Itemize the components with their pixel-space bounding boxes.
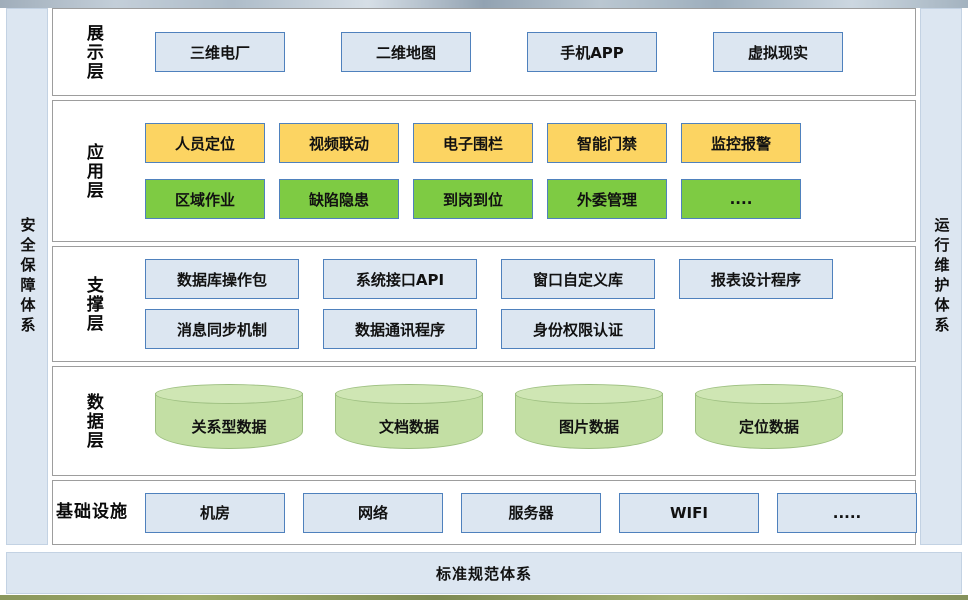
layer-support: 支撑层数据库操作包系统接口API窗口自定义库报表设计程序消息同步机制数据通讯程序… — [52, 246, 916, 362]
layer-body-presentation: 三维电厂二维地图手机APP虚拟现实 — [131, 9, 915, 95]
database-cylinder[interactable]: 定位数据 — [695, 384, 843, 458]
node-box[interactable]: 三维电厂 — [155, 32, 285, 72]
node-box[interactable]: 虚拟现实 — [713, 32, 843, 72]
node-label: 二维地图 — [376, 42, 436, 63]
bottom-photo-strip — [0, 595, 968, 600]
layer-label-infra: 基础设施 — [53, 504, 131, 522]
database-cylinder[interactable]: 图片数据 — [515, 384, 663, 458]
node-box[interactable]: 数据库操作包 — [145, 259, 299, 299]
node-label: 服务器 — [508, 502, 553, 523]
layer-row: 人员定位视频联动电子围栏智能门禁监控报警 — [131, 123, 909, 163]
node-label: 外委管理 — [577, 189, 637, 210]
cylinder-top-icon — [155, 384, 303, 404]
node-label: 人员定位 — [175, 133, 235, 154]
layer-row: 消息同步机制数据通讯程序身份权限认证 — [131, 309, 909, 349]
node-label: 网络 — [358, 502, 388, 523]
node-box[interactable]: 服务器 — [461, 493, 601, 533]
node-box[interactable]: 系统接口API — [323, 259, 477, 299]
node-label: 虚拟现实 — [748, 42, 808, 63]
layer-body-application: 人员定位视频联动电子围栏智能门禁监控报警区域作业缺陷隐患到岗到位外委管理.... — [131, 101, 915, 241]
layer-row: 三维电厂二维地图手机APP虚拟现实 — [131, 32, 909, 72]
cylinder-top-icon — [695, 384, 843, 404]
layer-row: 机房网络服务器WIFI..... — [131, 493, 917, 533]
node-box[interactable]: 区域作业 — [145, 179, 265, 219]
node-label: 视频联动 — [309, 133, 369, 154]
node-box[interactable]: 二维地图 — [341, 32, 471, 72]
node-label: 智能门禁 — [577, 133, 637, 154]
node-label: 手机APP — [560, 42, 624, 63]
layer-body-infra: 机房网络服务器WIFI..... — [131, 481, 923, 544]
layer-stack: 展示层三维电厂二维地图手机APP虚拟现实应用层人员定位视频联动电子围栏智能门禁监… — [52, 8, 916, 545]
node-box[interactable]: 消息同步机制 — [145, 309, 299, 349]
node-label: 数据通讯程序 — [355, 319, 445, 340]
layer-label-support: 支撑层 — [53, 276, 131, 333]
bottom-bar-label: 标准规范体系 — [436, 563, 532, 584]
node-box[interactable]: 窗口自定义库 — [501, 259, 655, 299]
cylinder-label: 图片数据 — [559, 416, 619, 437]
cylinder-label: 关系型数据 — [191, 416, 266, 437]
cylinder-top-icon — [515, 384, 663, 404]
node-label: 消息同步机制 — [177, 319, 267, 340]
database-cylinder[interactable]: 文档数据 — [335, 384, 483, 458]
node-box[interactable]: 报表设计程序 — [679, 259, 833, 299]
layer-label-presentation: 展示层 — [53, 24, 131, 81]
node-label: 电子围栏 — [443, 133, 503, 154]
cylinder-label: 文档数据 — [379, 416, 439, 437]
bottom-bar-standards: 标准规范体系 — [6, 552, 962, 594]
node-box[interactable]: 缺陷隐患 — [279, 179, 399, 219]
left-vertical-bar-security: 安全保障体系 — [6, 8, 48, 545]
node-box[interactable]: 网络 — [303, 493, 443, 533]
node-box[interactable]: 机房 — [145, 493, 285, 533]
node-box[interactable]: 身份权限认证 — [501, 309, 655, 349]
node-label: 三维电厂 — [190, 42, 250, 63]
layer-row: 关系型数据文档数据图片数据定位数据 — [131, 384, 909, 458]
cylinder-top-icon — [335, 384, 483, 404]
node-box[interactable]: 智能门禁 — [547, 123, 667, 163]
node-label: 到岗到位 — [443, 189, 503, 210]
layer-body-data: 关系型数据文档数据图片数据定位数据 — [131, 367, 915, 475]
node-label: ..... — [833, 504, 862, 522]
node-label: 机房 — [200, 502, 230, 523]
layer-infra: 基础设施机房网络服务器WIFI..... — [52, 480, 916, 545]
node-label: 报表设计程序 — [711, 269, 801, 290]
layer-presentation: 展示层三维电厂二维地图手机APP虚拟现实 — [52, 8, 916, 96]
layer-data: 数据层关系型数据文档数据图片数据定位数据 — [52, 366, 916, 476]
node-label: 系统接口API — [356, 269, 444, 290]
top-photo-strip — [0, 0, 968, 8]
node-label: 身份权限认证 — [533, 319, 623, 340]
node-box[interactable]: 人员定位 — [145, 123, 265, 163]
node-label: 窗口自定义库 — [533, 269, 623, 290]
node-label: WIFI — [670, 504, 708, 522]
node-label: 数据库操作包 — [177, 269, 267, 290]
right-bar-label: 运行维护体系 — [934, 217, 949, 337]
node-box[interactable]: ..... — [777, 493, 917, 533]
node-box[interactable]: WIFI — [619, 493, 759, 533]
node-box[interactable]: 数据通讯程序 — [323, 309, 477, 349]
node-box[interactable]: 电子围栏 — [413, 123, 533, 163]
node-box[interactable]: 视频联动 — [279, 123, 399, 163]
cylinder-label: 定位数据 — [739, 416, 799, 437]
layer-application: 应用层人员定位视频联动电子围栏智能门禁监控报警区域作业缺陷隐患到岗到位外委管理.… — [52, 100, 916, 242]
right-vertical-bar-operations: 运行维护体系 — [920, 8, 962, 545]
node-label: 区域作业 — [175, 189, 235, 210]
node-box[interactable]: 监控报警 — [681, 123, 801, 163]
layer-label-data: 数据层 — [53, 393, 131, 450]
database-cylinder[interactable]: 关系型数据 — [155, 384, 303, 458]
layer-label-application: 应用层 — [53, 143, 131, 200]
left-bar-label: 安全保障体系 — [20, 217, 35, 337]
layer-row: 区域作业缺陷隐患到岗到位外委管理.... — [131, 179, 909, 219]
layer-row: 数据库操作包系统接口API窗口自定义库报表设计程序 — [131, 259, 909, 299]
node-box[interactable]: .... — [681, 179, 801, 219]
node-box[interactable]: 手机APP — [527, 32, 657, 72]
node-box[interactable]: 到岗到位 — [413, 179, 533, 219]
node-box[interactable]: 外委管理 — [547, 179, 667, 219]
layer-body-support: 数据库操作包系统接口API窗口自定义库报表设计程序消息同步机制数据通讯程序身份权… — [131, 247, 915, 361]
node-label: 缺陷隐患 — [309, 189, 369, 210]
node-label: .... — [730, 190, 753, 208]
node-label: 监控报警 — [711, 133, 771, 154]
